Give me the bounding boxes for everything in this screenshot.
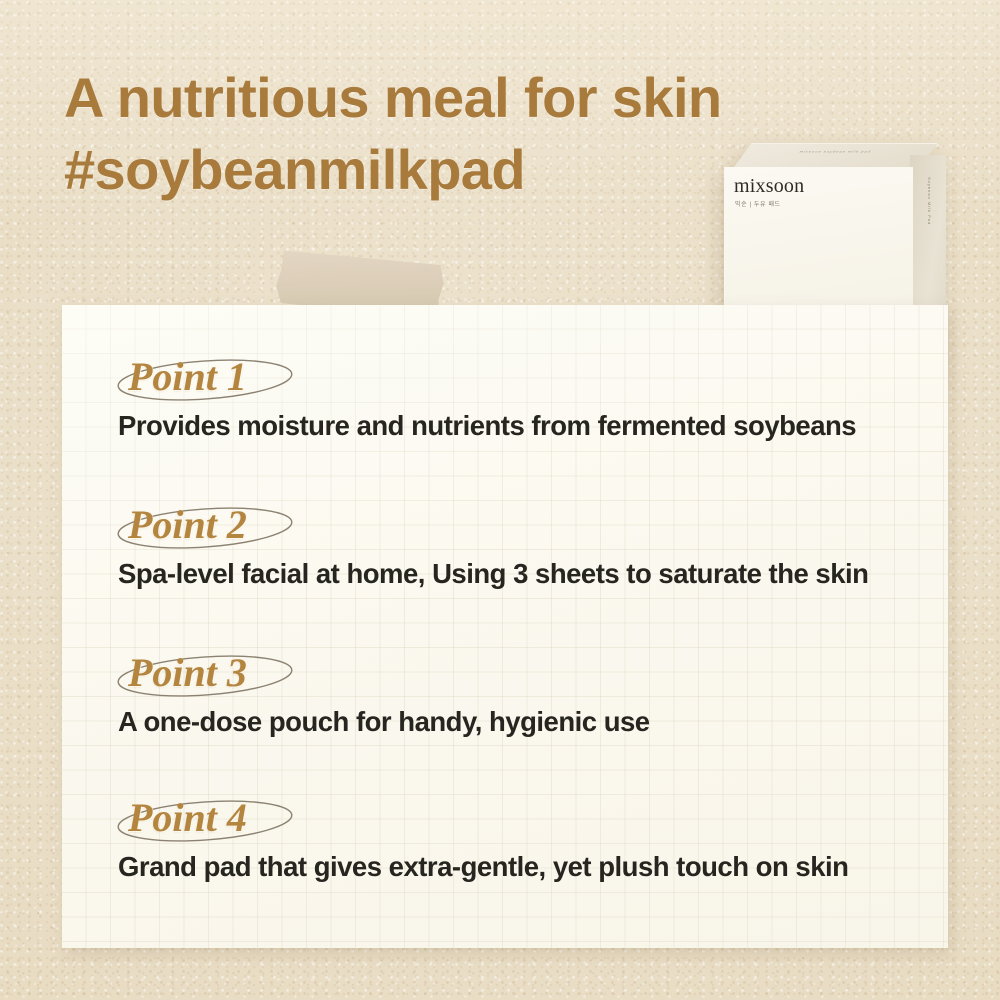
- product-brand-name: mixsoon: [734, 175, 804, 198]
- point-body-text: Provides moisture and nutrients from fer…: [118, 409, 948, 443]
- point-label: Point 1: [114, 351, 277, 403]
- point-label-text: Point 3: [128, 650, 247, 695]
- point-label-text: Point 4: [128, 795, 247, 840]
- point-label: Point 2: [114, 499, 277, 551]
- point-label: Point 3: [114, 647, 277, 699]
- grid-paper-card: Point 1 Provides moisture and nutrients …: [62, 305, 948, 948]
- product-brand-subtitle: 믹순 | 두유 패드: [735, 199, 781, 208]
- product-box-side-text: Soybean Milk Pad: [927, 177, 932, 225]
- point-body-text: Spa-level facial at home, Using 3 sheets…: [118, 557, 948, 591]
- point-label: Point 4: [114, 792, 277, 844]
- point-block: Point 2 Spa-level facial at home, Using …: [62, 499, 948, 591]
- product-box-top-text: mixsoon soybean milk pad: [799, 150, 873, 154]
- point-body-text: A one-dose pouch for handy, hygienic use: [118, 705, 948, 739]
- point-label-text: Point 2: [128, 502, 247, 547]
- point-block: Point 3 A one-dose pouch for handy, hygi…: [62, 647, 948, 739]
- headline-line-1: A nutritious meal for skin: [64, 66, 722, 129]
- point-body-text: Grand pad that gives extra-gentle, yet p…: [118, 850, 948, 884]
- product-box-top-face: [732, 143, 938, 170]
- point-block: Point 1 Provides moisture and nutrients …: [62, 351, 948, 443]
- point-label-text: Point 1: [128, 354, 247, 399]
- point-block: Point 4 Grand pad that gives extra-gentl…: [62, 792, 948, 884]
